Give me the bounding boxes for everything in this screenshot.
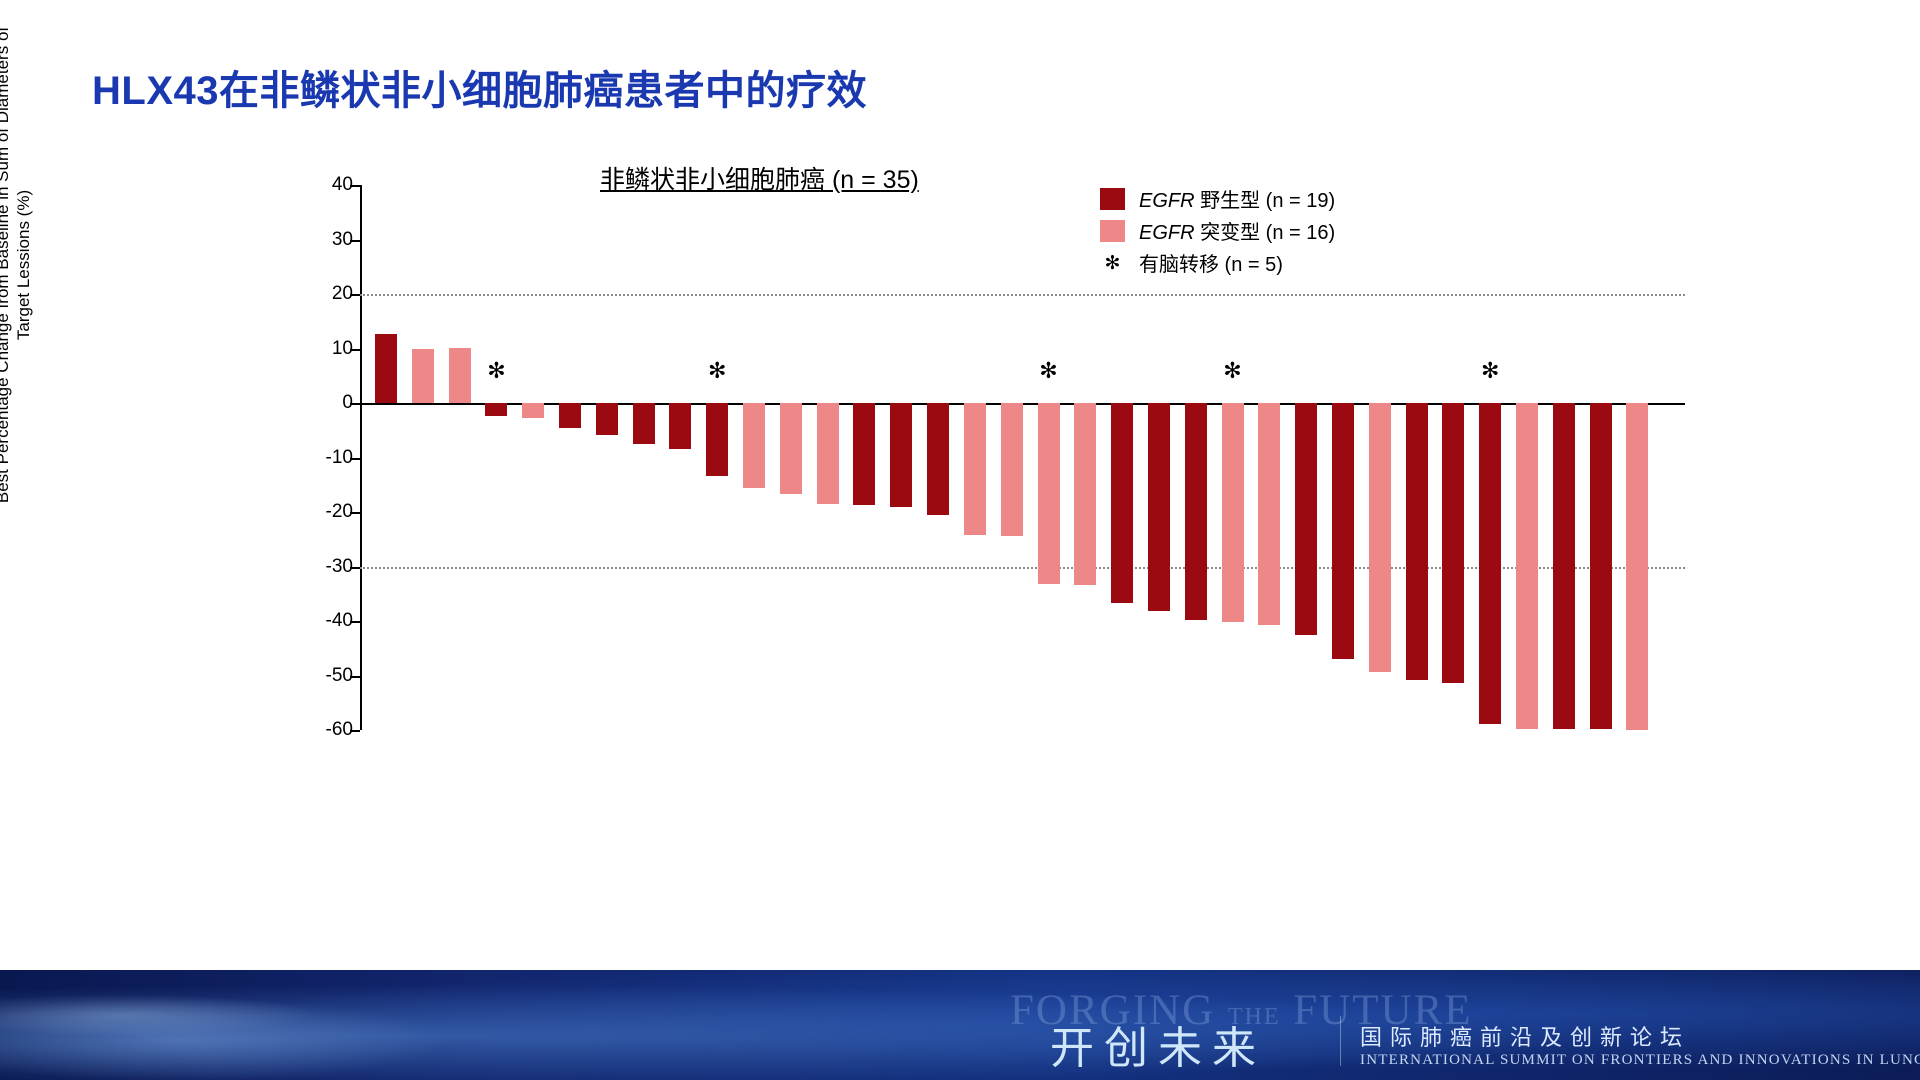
bar xyxy=(1111,403,1133,603)
bar xyxy=(449,348,471,403)
bar xyxy=(890,403,912,507)
legend-color-swatch xyxy=(1100,188,1125,210)
bar xyxy=(1001,403,1023,536)
bar xyxy=(1222,403,1244,622)
bar xyxy=(1295,403,1317,635)
footer-banner: FORGING THE FUTURE 开创未来 国际肺癌前沿及创新论坛 INTE… xyxy=(0,970,1920,1080)
y-axis-tick-label: -40 xyxy=(326,610,353,632)
bar xyxy=(633,403,655,444)
chart-legend: EGFR 野生型 (n = 19)EGFR 突变型 (n = 16)✻有脑转移 … xyxy=(1100,185,1335,281)
y-axis-tick-label: -30 xyxy=(326,556,353,578)
bar xyxy=(706,403,728,476)
brain-metastasis-star-marker: ✻ xyxy=(1223,361,1241,383)
y-axis-tick-label: 10 xyxy=(332,338,353,360)
legend-item-label: 有脑转移 (n = 5) xyxy=(1139,248,1283,277)
y-axis-tick-label: -20 xyxy=(326,501,353,523)
bar xyxy=(1038,403,1060,584)
bar xyxy=(743,403,765,488)
plot-area: 403020100-10-20-30-40-50-60 ✻✻✻✻✻ xyxy=(360,185,1685,730)
bar xyxy=(1185,403,1207,620)
bar xyxy=(559,403,581,428)
bar xyxy=(412,349,434,404)
bar xyxy=(596,403,618,435)
legend-item[interactable]: EGFR 野生型 (n = 19) xyxy=(1100,185,1335,212)
bar xyxy=(1369,403,1391,672)
bar xyxy=(522,403,544,418)
bar xyxy=(1406,403,1428,680)
page-title: HLX43在非鳞状非小细胞肺癌患者中的疗效 xyxy=(92,58,867,116)
bar xyxy=(669,403,691,449)
bar xyxy=(1258,403,1280,625)
bar xyxy=(1479,403,1501,724)
y-axis-tick-label: -50 xyxy=(326,665,353,687)
bar xyxy=(1442,403,1464,683)
bar xyxy=(1074,403,1096,585)
legend-item[interactable]: ✻有脑转移 (n = 5) xyxy=(1100,249,1335,276)
brand-english-subtitle: INTERNATIONAL SUMMIT ON FRONTIERS AND IN… xyxy=(1360,1052,1920,1069)
bar-group: ✻✻✻✻✻ xyxy=(360,185,1685,730)
bar xyxy=(1332,403,1354,659)
legend-star-icon: ✻ xyxy=(1100,252,1125,274)
bar xyxy=(1148,403,1170,611)
bar xyxy=(1626,403,1648,730)
bar xyxy=(1590,403,1612,729)
brain-metastasis-star-marker: ✻ xyxy=(708,361,726,383)
bar xyxy=(817,403,839,504)
legend-item[interactable]: EGFR 突变型 (n = 16) xyxy=(1100,217,1335,244)
y-axis-tick-label: -10 xyxy=(326,447,353,469)
waterfall-chart: Best Percentage Change from Baseline in … xyxy=(270,185,1690,785)
y-axis-tick-label: 30 xyxy=(332,229,353,251)
bar xyxy=(853,403,875,505)
y-axis-tick-label: -60 xyxy=(326,719,353,741)
brand-divider xyxy=(1340,1016,1341,1066)
y-axis-label: Best Percentage Change from Baseline in … xyxy=(0,5,32,525)
bar xyxy=(927,403,949,515)
bar xyxy=(780,403,802,494)
brain-metastasis-star-marker: ✻ xyxy=(487,361,505,383)
y-axis-tick-label: 40 xyxy=(332,174,353,196)
y-axis-tick-label: 0 xyxy=(342,392,353,414)
brand-chinese-title: 开创未来 xyxy=(1050,1012,1266,1076)
brand-chinese-subtitle: 国际肺癌前沿及创新论坛 xyxy=(1360,1020,1690,1052)
bar xyxy=(485,403,507,416)
footer-brand: FORGING THE FUTURE 开创未来 国际肺癌前沿及创新论坛 INTE… xyxy=(990,970,1910,1080)
legend-color-swatch xyxy=(1100,220,1125,242)
y-axis-tick-label: 20 xyxy=(332,283,353,305)
bar xyxy=(1516,403,1538,729)
brain-metastasis-star-marker: ✻ xyxy=(1481,361,1499,383)
footer-swirl-decoration xyxy=(0,970,700,1080)
bar xyxy=(375,334,397,403)
bar xyxy=(1553,403,1575,729)
bar xyxy=(964,403,986,535)
legend-item-label: EGFR 突变型 (n = 16) xyxy=(1139,216,1335,245)
brain-metastasis-star-marker: ✻ xyxy=(1039,361,1057,383)
legend-item-label: EGFR 野生型 (n = 19) xyxy=(1139,184,1335,213)
